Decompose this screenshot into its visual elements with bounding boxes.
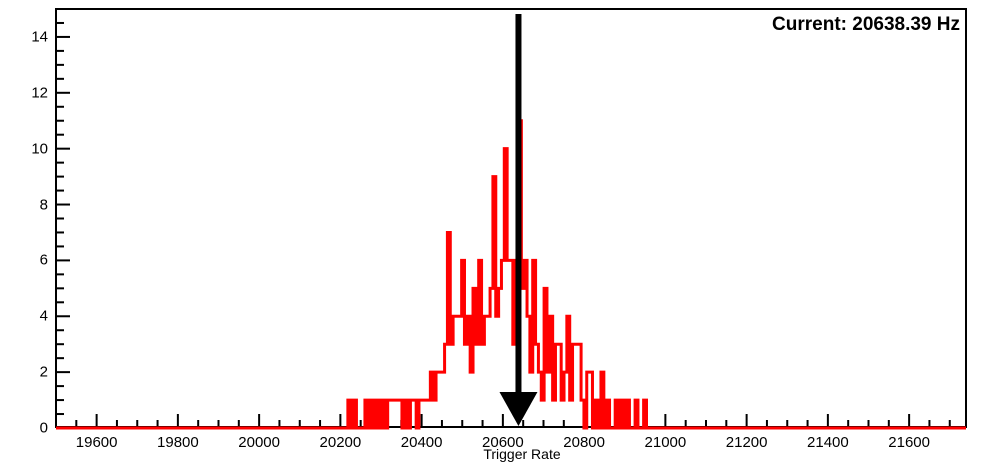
marker-arrowhead	[499, 392, 537, 426]
histogram-canvas: 1960019800200002020020400206002080021000…	[0, 0, 996, 472]
histogram-trace	[56, 121, 966, 428]
x-axis-title-text: Trigger Rate	[483, 446, 560, 462]
y-axis-ticks	[56, 9, 70, 428]
plot-graphics	[0, 0, 996, 472]
y-tick-label: 2	[20, 364, 48, 381]
y-tick-label: 14	[20, 28, 48, 45]
y-tick-label: 10	[20, 140, 48, 157]
y-tick-label: 6	[20, 252, 48, 269]
y-tick-label: 0	[20, 420, 48, 437]
y-tick-label: 4	[20, 308, 48, 325]
current-rate-title: Current: 20638.39 Hz	[772, 14, 960, 36]
x-axis-title: Trigger Rate	[0, 446, 996, 462]
y-tick-label: 12	[20, 84, 48, 101]
y-tick-label: 8	[20, 196, 48, 213]
x-axis-ticks	[56, 414, 950, 428]
